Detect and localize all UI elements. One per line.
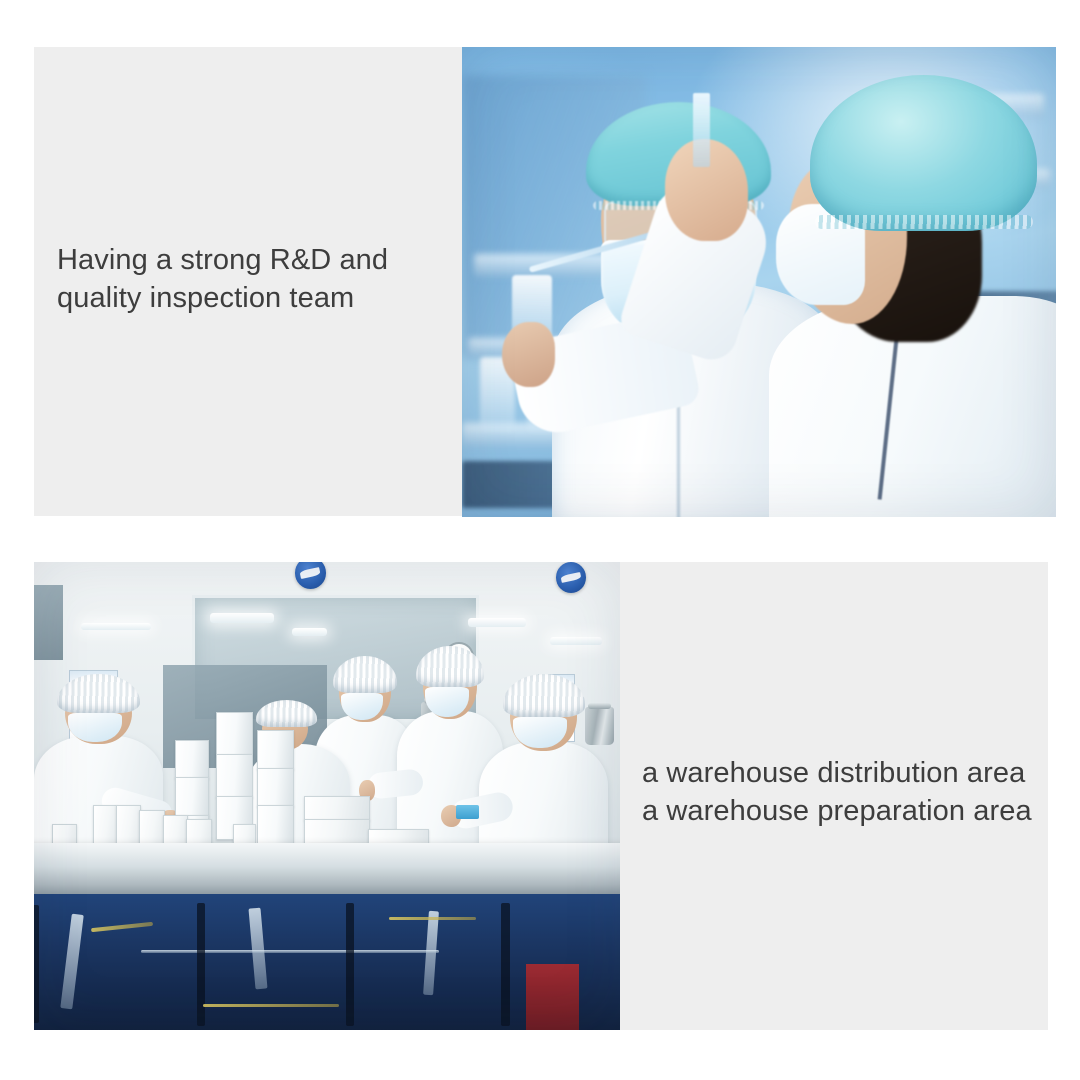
red-floor-mark: [526, 964, 579, 1030]
floor-marking: [389, 917, 476, 920]
product-box: [257, 730, 294, 769]
product-box: [216, 712, 253, 756]
hairnet-cap: [503, 674, 586, 717]
ceiling-light: [210, 613, 274, 623]
test-tube: [693, 93, 710, 167]
product-box: [175, 777, 209, 816]
warehouse-caption: a warehouse distribution area a warehous…: [642, 754, 1052, 831]
hairnet-cap: [57, 674, 140, 713]
hairnet-cap: [810, 75, 1037, 232]
lab-technician-profile: [741, 56, 1056, 517]
wall-panel: [34, 585, 63, 660]
table-rail: [141, 950, 439, 953]
ceiling-light: [81, 623, 151, 630]
product-box: [175, 740, 209, 779]
table-leg: [249, 908, 268, 990]
ceiling-light: [468, 618, 527, 626]
hairnet-cap: [416, 646, 484, 687]
blue-circular-sign-icon: [556, 562, 586, 593]
hairnet-cap: [256, 700, 317, 727]
table-shadow-leg: [34, 905, 39, 1023]
warehouse-text-panel: a warehouse distribution area a warehous…: [620, 562, 1048, 1030]
table-shadow-leg: [346, 903, 355, 1027]
lab-scene: [462, 47, 1056, 517]
table-leg: [423, 911, 439, 996]
ceiling-light: [550, 637, 603, 645]
hairnet-cap: [333, 656, 397, 693]
hand: [502, 322, 555, 387]
stainless-table-top: [34, 843, 620, 899]
product-box: [257, 768, 294, 807]
warehouse-packing-photo: [34, 562, 620, 1030]
product-box: [257, 805, 294, 844]
ceiling-light: [292, 628, 327, 636]
rnd-caption: Having a strong R&D and quality inspecti…: [57, 241, 457, 318]
product-box: [304, 819, 370, 844]
warehouse-scene: [34, 562, 620, 1030]
table-shadow-leg: [197, 903, 206, 1027]
floor-marking: [203, 1004, 340, 1007]
floor-marking: [91, 922, 153, 932]
blue-tape: [456, 805, 479, 819]
product-box: [216, 754, 253, 798]
table-shadow-leg: [501, 903, 510, 1027]
product-box: [304, 796, 370, 821]
table-leg: [60, 914, 84, 1010]
lab-rnd-photo: [462, 47, 1056, 517]
rnd-text-panel: Having a strong R&D and quality inspecti…: [34, 47, 464, 516]
